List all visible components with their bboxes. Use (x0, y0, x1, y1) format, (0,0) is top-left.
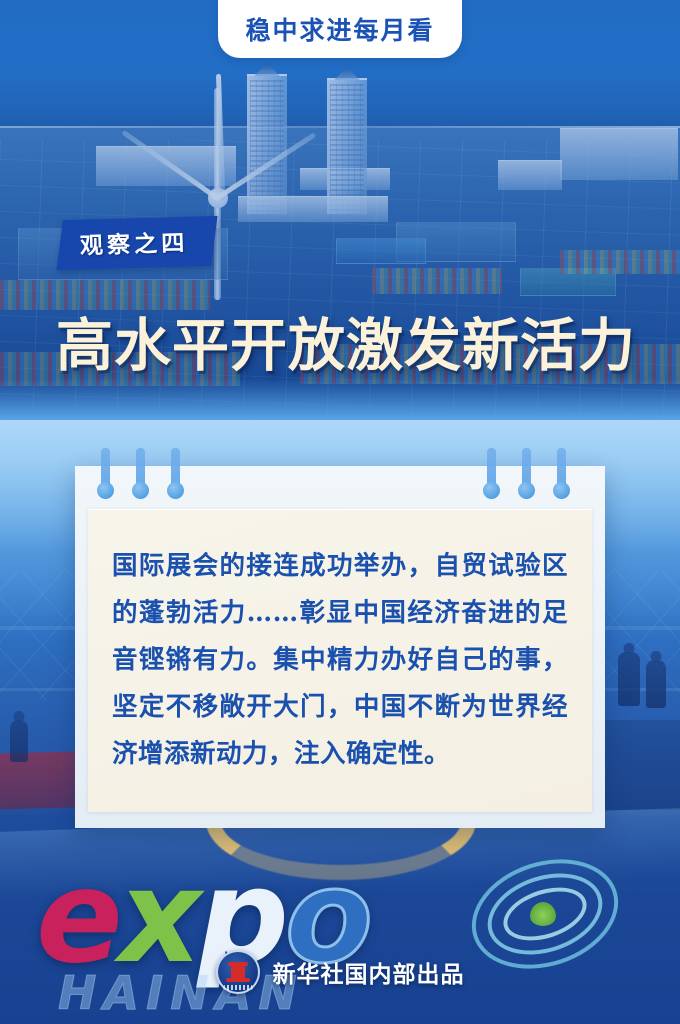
visitor-silhouette (10, 720, 28, 762)
xinhua-emblem (228, 962, 248, 982)
pin-head (553, 482, 570, 499)
pin-head (518, 482, 535, 499)
footer-label: 新华社国内部出品 (273, 955, 465, 989)
observation-tag-label: 观察之四 (79, 224, 188, 261)
top-badge: 稳中求进每月看 (218, 0, 462, 58)
pin-head (483, 482, 500, 499)
emblem-base (226, 978, 250, 982)
card-pin-icon (483, 448, 500, 510)
swirl-leaf-icon (530, 902, 556, 926)
card-pin-icon (167, 448, 184, 510)
pin-head (167, 482, 184, 499)
visitor-silhouette (618, 652, 640, 706)
xinhua-logo-icon (216, 950, 260, 994)
card-pin-icon (518, 448, 535, 510)
card-body-text: 国际展会的接连成功举办，自贸试验区的蓬勃活力……彰显中国经济奋进的足音铿锵有力。… (112, 543, 568, 778)
poster-root: 稳中求进每月看 观察之四 高水平开放激发新活力 expo (0, 0, 680, 1024)
photo-bottom-fade (0, 378, 680, 420)
pin-head (132, 482, 149, 499)
footer: 新华社国内部出品 (0, 950, 680, 994)
card-pin-icon (553, 448, 570, 510)
content-card: 国际展会的接连成功举办，自贸试验区的蓬勃活力……彰显中国经济奋进的足音铿锵有力。… (75, 466, 605, 828)
top-badge-label: 稳中求进每月看 (245, 11, 434, 47)
page-title: 高水平开放激发新活力 (56, 300, 656, 382)
pin-head (97, 482, 114, 499)
observation-tag: 观察之四 (56, 216, 217, 270)
visitor-silhouette (646, 660, 666, 708)
card-inner-panel: 国际展会的接连成功举办，自贸试验区的蓬勃活力……彰显中国经济奋进的足音铿锵有力。… (88, 509, 592, 812)
card-pin-icon (132, 448, 149, 510)
card-pin-icon (97, 448, 114, 510)
emblem-gate (231, 965, 245, 978)
emblem-ring-text (223, 985, 253, 990)
